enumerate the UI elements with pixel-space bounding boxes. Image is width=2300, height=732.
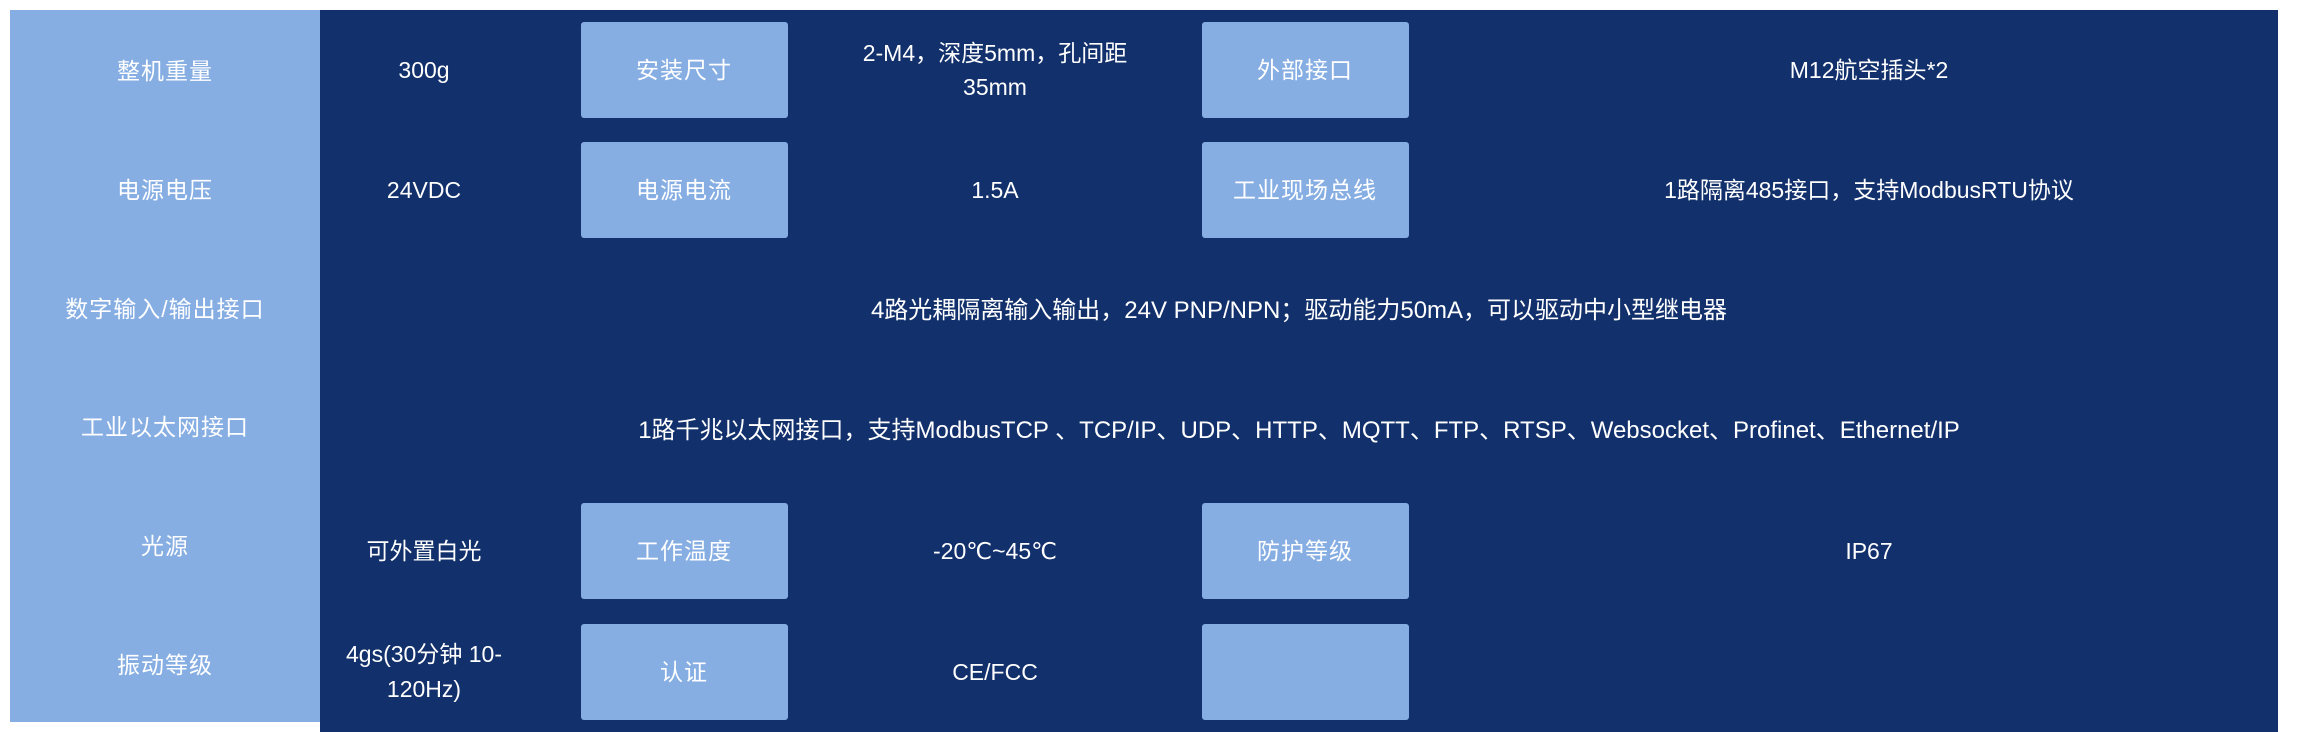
- chip-slot-protection-rating: 防护等级: [1150, 491, 1460, 611]
- cell-mounting-dimension-value: 2-M4，深度5mm，孔间距35mm: [840, 10, 1150, 130]
- chip-label-protection-rating: 防护等级: [1202, 503, 1409, 599]
- cell-protection-rating-value: IP67: [1460, 491, 2278, 611]
- chip-slot-external-interface: 外部接口: [1150, 10, 1460, 130]
- cell-vibration-level-value: 4gs(30分钟 10-120Hz): [320, 612, 528, 732]
- cell-digital-io-description: 4路光耦隔离输入输出，24V PNP/NPN；驱动能力50mA，可以驱动中小型继…: [320, 251, 2278, 371]
- chip-slot-mounting-dimension: 安装尺寸: [528, 10, 840, 130]
- chip-slot-power-current: 电源电流: [528, 130, 840, 250]
- table-row: 4路光耦隔离输入输出，24V PNP/NPN；驱动能力50mA，可以驱动中小型继…: [320, 251, 2278, 371]
- chip-label-certification: 认证: [581, 624, 788, 720]
- chip-slot-certification: 认证: [528, 612, 840, 732]
- cell-empty-value: [1460, 612, 2278, 732]
- cell-industrial-fieldbus-value: 1路隔离485接口，支持ModbusRTU协议: [1460, 130, 2278, 250]
- cell-certification-value: CE/FCC: [840, 612, 1150, 732]
- table-row: 300g 安装尺寸 2-M4，深度5mm，孔间距35mm 外部接口 M12航空插…: [320, 10, 2278, 130]
- chip-label-mounting-dimension: 安装尺寸: [581, 22, 788, 118]
- chip-label-external-interface: 外部接口: [1202, 22, 1409, 118]
- row-label-industrial-ethernet-interface: 工业以太网接口: [10, 366, 320, 485]
- row-label-column: 整机重量 电源电压 数字输入/输出接口 工业以太网接口 光源 振动等级: [10, 10, 320, 722]
- cell-industrial-ethernet-description: 1路千兆以太网接口，支持ModbusTCP 、TCP/IP、UDP、HTTP、M…: [320, 371, 2278, 491]
- table-row: 24VDC 电源电流 1.5A 工业现场总线 1路隔离485接口，支持Modbu…: [320, 130, 2278, 250]
- chip-slot-operating-temperature: 工作温度: [528, 491, 840, 611]
- table-row: 1路千兆以太网接口，支持ModbusTCP 、TCP/IP、UDP、HTTP、M…: [320, 371, 2278, 491]
- chip-label-empty: [1202, 624, 1409, 720]
- cell-power-current-value: 1.5A: [840, 130, 1150, 250]
- chip-label-industrial-fieldbus: 工业现场总线: [1202, 142, 1409, 238]
- chip-slot-empty: [1150, 612, 1460, 732]
- chip-label-operating-temperature: 工作温度: [581, 503, 788, 599]
- cell-operating-temperature-value: -20℃~45℃: [840, 491, 1150, 611]
- table-row: 4gs(30分钟 10-120Hz) 认证 CE/FCC: [320, 612, 2278, 732]
- table-body: 300g 安装尺寸 2-M4，深度5mm，孔间距35mm 外部接口 M12航空插…: [320, 10, 2278, 732]
- row-label-power-voltage: 电源电压: [10, 129, 320, 248]
- cell-power-voltage-value: 24VDC: [320, 130, 528, 250]
- row-label-whole-machine-weight: 整机重量: [10, 10, 320, 129]
- cell-external-interface-value: M12航空插头*2: [1460, 10, 2278, 130]
- row-label-vibration-level: 振动等级: [10, 603, 320, 722]
- specification-table: 整机重量 电源电压 数字输入/输出接口 工业以太网接口 光源 振动等级 300g…: [0, 0, 2300, 732]
- chip-label-power-current: 电源电流: [581, 142, 788, 238]
- cell-weight-value: 300g: [320, 10, 528, 130]
- table-row: 可外置白光 工作温度 -20℃~45℃ 防护等级 IP67: [320, 491, 2278, 611]
- chip-slot-industrial-fieldbus: 工业现场总线: [1150, 130, 1460, 250]
- row-label-digital-io-interface: 数字输入/输出接口: [10, 247, 320, 366]
- row-label-light-source: 光源: [10, 485, 320, 604]
- cell-light-source-value: 可外置白光: [320, 491, 528, 611]
